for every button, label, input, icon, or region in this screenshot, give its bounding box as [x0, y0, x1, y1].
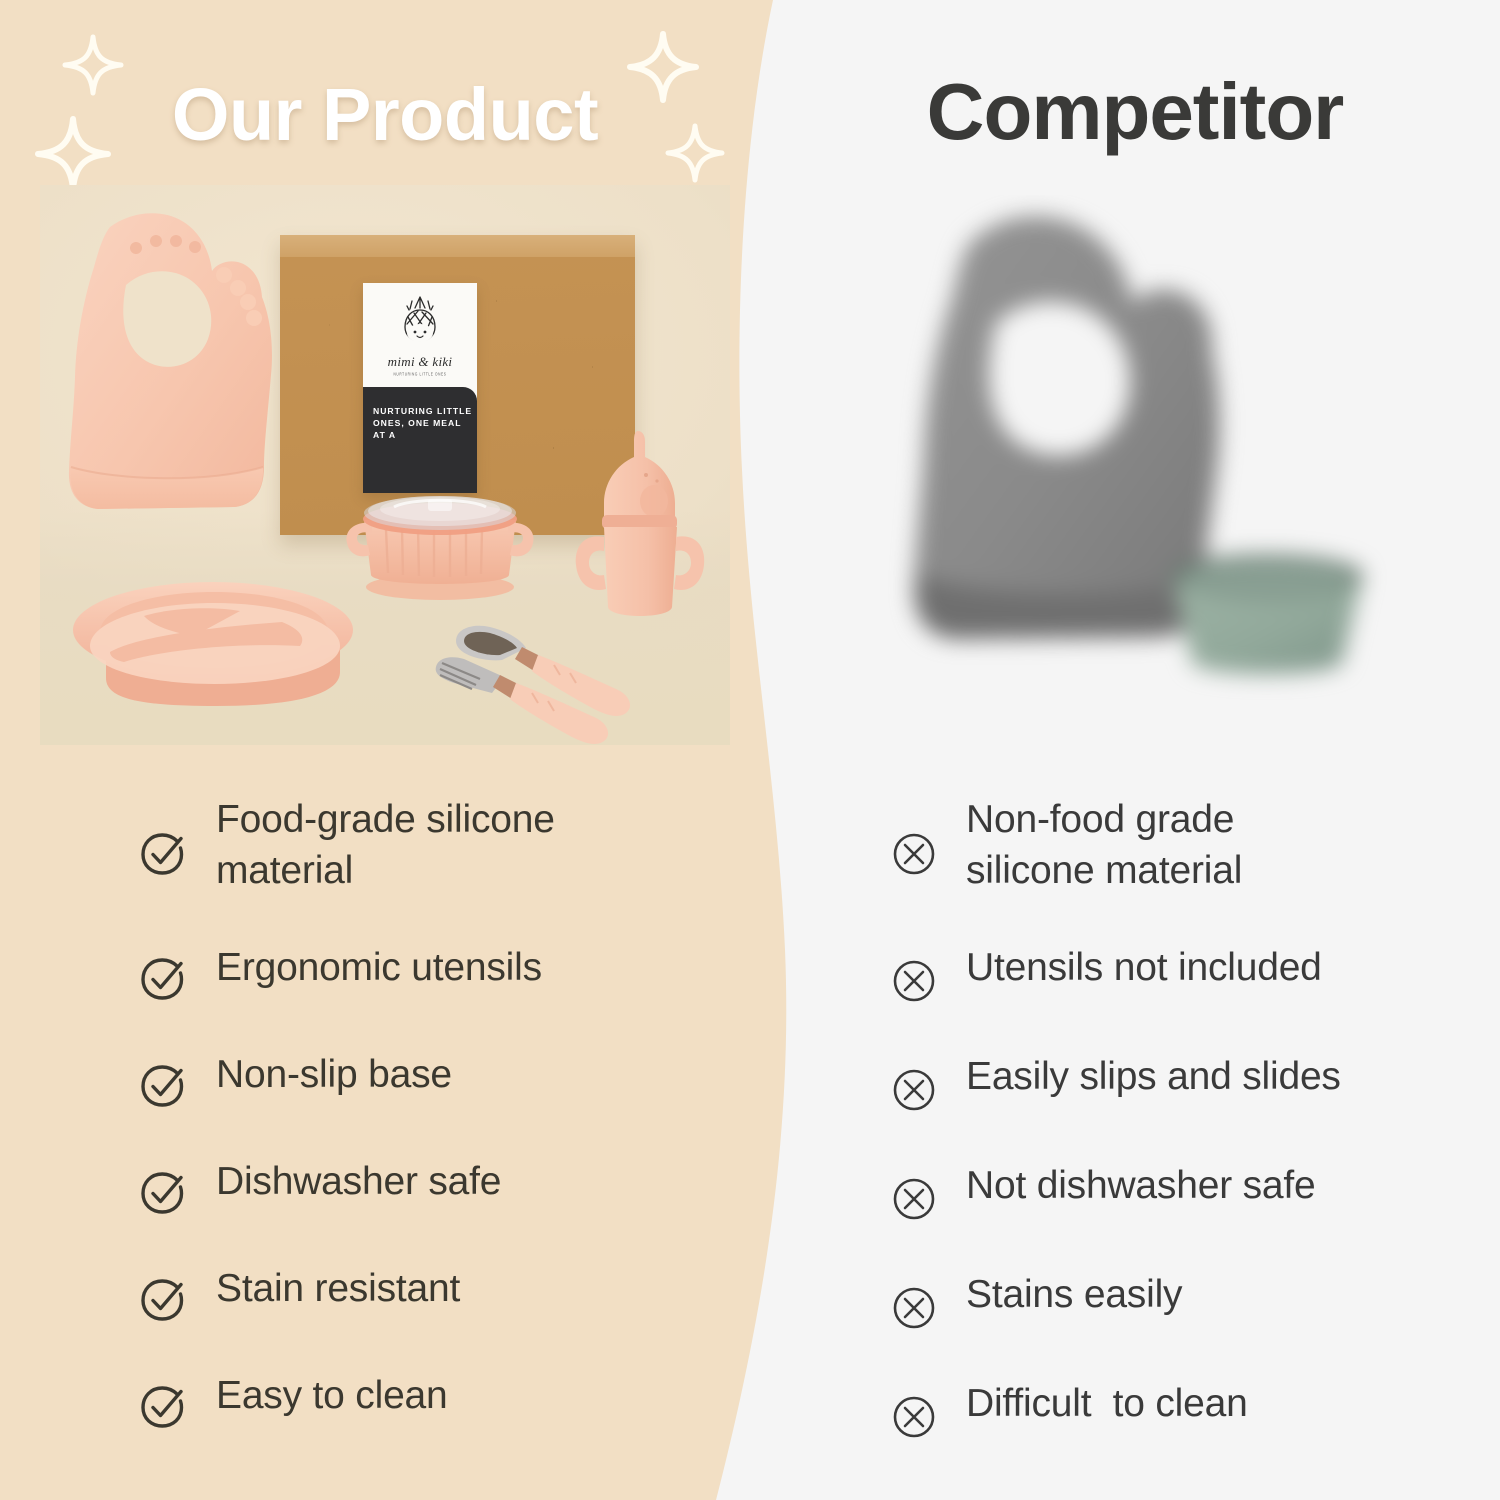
check-circle-icon	[140, 955, 188, 1003]
check-circle-icon	[140, 830, 188, 878]
feature-label: Non-slip base	[216, 1050, 452, 1101]
divided-plate	[48, 570, 378, 715]
feature-label: Non-food grade silicone material	[966, 795, 1242, 896]
feature-row: Difficult to clean	[890, 1379, 1450, 1441]
brand-name: mimi & kiki	[388, 354, 453, 370]
check-circle-icon	[140, 1276, 188, 1324]
check-circle-icon	[140, 1169, 188, 1217]
sippy-cup	[560, 425, 720, 640]
feature-row: Dishwasher safe	[140, 1157, 700, 1217]
check-circle-icon	[140, 1062, 188, 1110]
x-circle-icon	[890, 957, 938, 1005]
baby-utensils	[438, 615, 673, 720]
our-product-title: Our Product	[0, 72, 770, 157]
feature-label: Difficult to clean	[966, 1379, 1248, 1430]
feature-label: Ergonomic utensils	[216, 943, 542, 994]
x-circle-icon	[890, 830, 938, 878]
product-photo: mimi & kiki NURTURING LITTLE ONES NURTUR…	[40, 185, 730, 745]
feature-label: Utensils not included	[966, 943, 1322, 994]
competitor-stage	[875, 195, 1415, 740]
x-circle-icon	[890, 1066, 938, 1114]
feature-row: Stain resistant	[140, 1264, 700, 1324]
competitor-title: Competitor	[790, 66, 1480, 158]
silicone-bib	[58, 205, 320, 545]
feature-row: Easy to clean	[140, 1371, 700, 1431]
feature-row: Utensils not included	[890, 943, 1450, 1005]
feature-label: Stains easily	[966, 1270, 1182, 1321]
feature-label: Dishwasher safe	[216, 1157, 501, 1208]
pineapple-baby-icon	[388, 291, 452, 353]
feature-row: Non-food grade silicone material	[890, 795, 1450, 896]
brand-logo: mimi & kiki NURTURING LITTLE ONES	[363, 291, 477, 387]
feature-label: Food-grade silicone material	[216, 795, 555, 896]
feature-row: Not dishwasher safe	[890, 1161, 1450, 1223]
feature-row: Food-grade silicone material	[140, 795, 700, 896]
competitor-photo-blurred	[875, 195, 1415, 740]
feature-row: Non-slip base	[140, 1050, 700, 1110]
feature-label: Not dishwasher safe	[966, 1161, 1316, 1212]
feature-label: Easily slips and slides	[966, 1052, 1341, 1103]
feature-label: Easy to clean	[216, 1371, 448, 1422]
competitor-feature-list: Non-food grade silicone material Utensil…	[890, 795, 1450, 1488]
sage-green-bowl	[1160, 550, 1375, 695]
brand-card: mimi & kiki NURTURING LITTLE ONES NURTUR…	[363, 283, 477, 493]
x-circle-icon	[890, 1284, 938, 1332]
card-headline: NURTURING LITTLE ONES, ONE MEAL AT A	[373, 405, 477, 442]
feature-label: Stain resistant	[216, 1264, 460, 1315]
comparison-infographic: Our Product Competitor	[0, 0, 1500, 1500]
x-circle-icon	[890, 1393, 938, 1441]
feature-row: Ergonomic utensils	[140, 943, 700, 1003]
feature-row: Easily slips and slides	[890, 1052, 1450, 1114]
feature-row: Stains easily	[890, 1270, 1450, 1332]
brand-tagline: NURTURING LITTLE ONES	[394, 371, 447, 377]
check-circle-icon	[140, 1383, 188, 1431]
x-circle-icon	[890, 1175, 938, 1223]
our-product-feature-list: Food-grade silicone material Ergonomic u…	[140, 795, 700, 1478]
